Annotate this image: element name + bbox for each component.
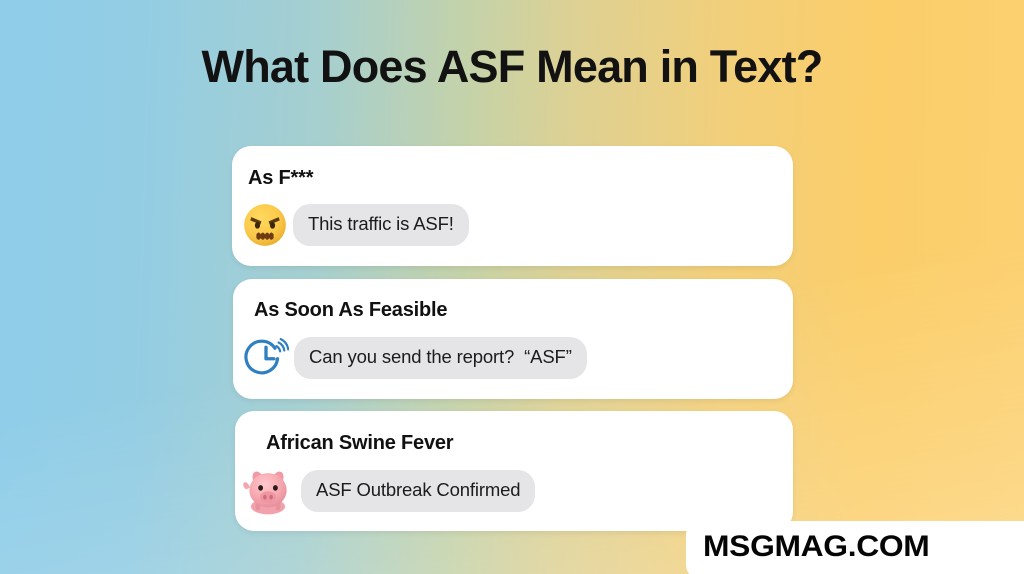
message-row: ASF Outbreak Confirmed [240, 466, 535, 516]
watermark-badge: MSGMAG.COM [686, 521, 1024, 574]
meaning-card-as-f: As F*** This traffic is ASF! [232, 146, 793, 266]
pig-face-emoji [240, 466, 296, 516]
message-bubble: This traffic is ASF! [293, 204, 469, 246]
card-heading: African Swine Fever [266, 432, 453, 455]
meaning-card-african-swine-fever: African Swine Fever [235, 411, 793, 531]
message-bubble: Can you send the report? “ASF” [294, 337, 587, 379]
meaning-card-as-soon-as-feasible: As Soon As Feasible Can you send the rep… [233, 279, 793, 399]
message-row: This traffic is ASF! [242, 202, 469, 248]
watermark-text: MSGMAG.COM [703, 530, 929, 564]
message-bubble: ASF Outbreak Confirmed [301, 470, 535, 512]
message-row: Can you send the report? “ASF” [243, 335, 587, 381]
card-heading: As F*** [248, 167, 313, 190]
alarm-clock-icon [243, 335, 289, 381]
card-heading: As Soon As Feasible [254, 299, 447, 322]
page-title: What Does ASF Mean in Text? [0, 41, 1024, 93]
angry-face-emoji [242, 202, 288, 248]
